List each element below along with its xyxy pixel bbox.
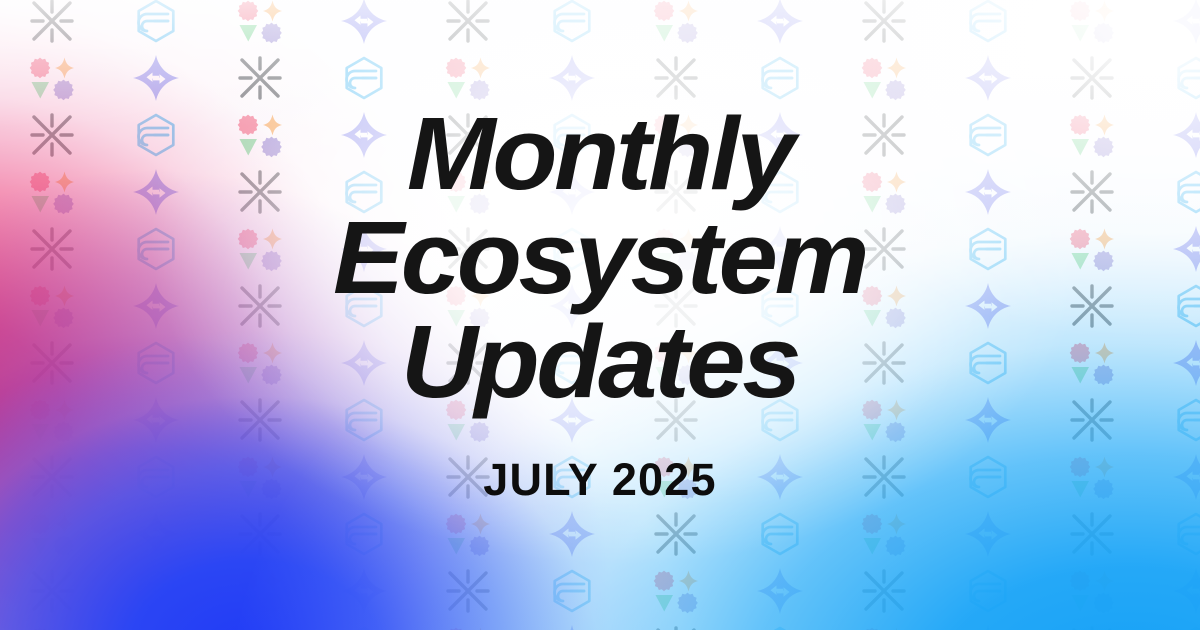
subtitle-date: JULY 2025 xyxy=(483,454,717,506)
headline-line-3: Updates xyxy=(333,310,866,414)
headline-line-1: Monthly xyxy=(333,102,866,206)
page-title: Monthly Ecosystem Updates xyxy=(333,102,866,414)
monthly-ecosystem-updates-banner: Monthly Ecosystem Updates JULY 2025 xyxy=(0,0,1200,630)
headline-line-2: Ecosystem xyxy=(333,206,866,310)
banner-text-block: Monthly Ecosystem Updates JULY 2025 xyxy=(0,0,1200,630)
